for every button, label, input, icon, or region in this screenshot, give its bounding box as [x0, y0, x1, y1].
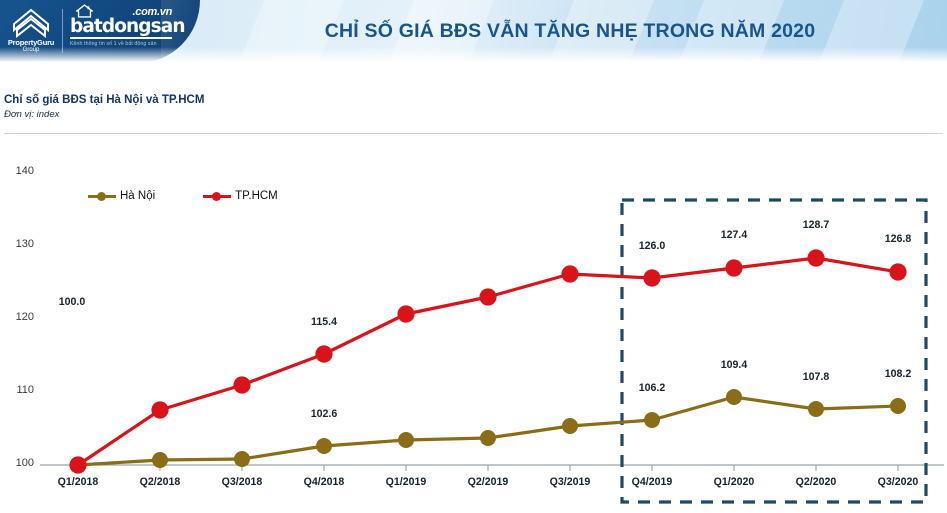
- x-tick-label-1: Q2/2018: [117, 476, 203, 488]
- batdongsan-wordmark: batdongsan: [70, 17, 190, 36]
- section-unit: Đơn vị: index: [4, 109, 944, 120]
- batdongsan-word-text: batdongsan: [70, 16, 185, 37]
- x-tick-label-4: Q1/2019: [363, 476, 449, 488]
- batdongsan-logo: .com.vn batdongsan Kênh thông tin số 1 v…: [70, 7, 190, 47]
- legend-label-tphcm: TP.HCM: [235, 190, 278, 202]
- legend-label-hanoi: Hà Nội: [120, 190, 155, 202]
- x-tick-label-2: Q3/2018: [199, 476, 285, 488]
- x-tick-label-6: Q3/2019: [527, 476, 613, 488]
- section-title: Chỉ số giá BĐS tại Hà Nội và TP.HCM: [4, 94, 944, 106]
- y-tick-110: 110: [4, 384, 34, 396]
- point-label-hanoi-q1-2020: 109.4: [704, 359, 764, 371]
- point-label-tphcm-q4-2018: 115.4: [294, 316, 354, 328]
- y-tick-140: 140: [4, 165, 34, 177]
- point-label-tphcm-q3-2020: 126.8: [868, 233, 928, 245]
- point-label-tphcm-q1-2020: 127.4: [704, 229, 764, 241]
- legend-swatch-tphcm: [203, 191, 231, 201]
- x-tick-label-8: Q1/2020: [691, 476, 777, 488]
- propertyguru-name: PropertyGuru: [5, 39, 57, 47]
- point-label-hanoi-q2-2020: 107.8: [786, 371, 846, 383]
- batdongsan-underline: [70, 37, 172, 39]
- propertyguru-chevron-icon: [11, 8, 51, 38]
- section-heading: Chỉ số giá BĐS tại Hà Nội và TP.HCM Đơn …: [4, 94, 944, 120]
- section-divider: [4, 133, 943, 134]
- house-icon: [76, 4, 93, 18]
- x-tick-label-3: Q4/2018: [281, 476, 367, 488]
- x-tick-label-0: Q1/2018: [35, 476, 121, 488]
- x-tick-label-7: Q4/2019: [609, 476, 695, 488]
- x-tick-label-10: Q3/2020: [855, 476, 941, 488]
- point-label-hanoi-q3-2020: 108.2: [868, 368, 928, 380]
- header-bottom-fade: [0, 47, 947, 63]
- point-label-tphcm-q4-2019: 126.0: [622, 240, 682, 252]
- y-tick-120: 120: [4, 311, 34, 323]
- legend-swatch-hanoi: [88, 191, 116, 201]
- legend-item-tphcm[interactable]: TP.HCM: [203, 190, 278, 202]
- point-label-hanoi-q4-2019: 106.2: [622, 382, 682, 394]
- chart-legend: Hà Nội TP.HCM: [88, 190, 278, 202]
- point-label-tphcm-q2-2020: 128.7: [786, 219, 846, 231]
- y-tick-130: 130: [4, 238, 34, 250]
- x-tick-label-9: Q2/2020: [773, 476, 859, 488]
- x-axis-ticks: [78, 465, 898, 471]
- price-index-line-chart: Hà Nội TP.HCM 140 130 120 110 100: [0, 140, 947, 513]
- x-tick-label-5: Q2/2019: [445, 476, 531, 488]
- page-header: PropertyGuru Group .com.vn batdongsan Kê…: [0, 0, 947, 63]
- point-label-tphcm-q1-2018: 100.0: [42, 296, 102, 308]
- y-tick-100: 100: [4, 457, 34, 469]
- legend-item-hanoi[interactable]: Hà Nội: [88, 190, 155, 202]
- point-label-hanoi-q4-2018: 102.6: [294, 408, 354, 420]
